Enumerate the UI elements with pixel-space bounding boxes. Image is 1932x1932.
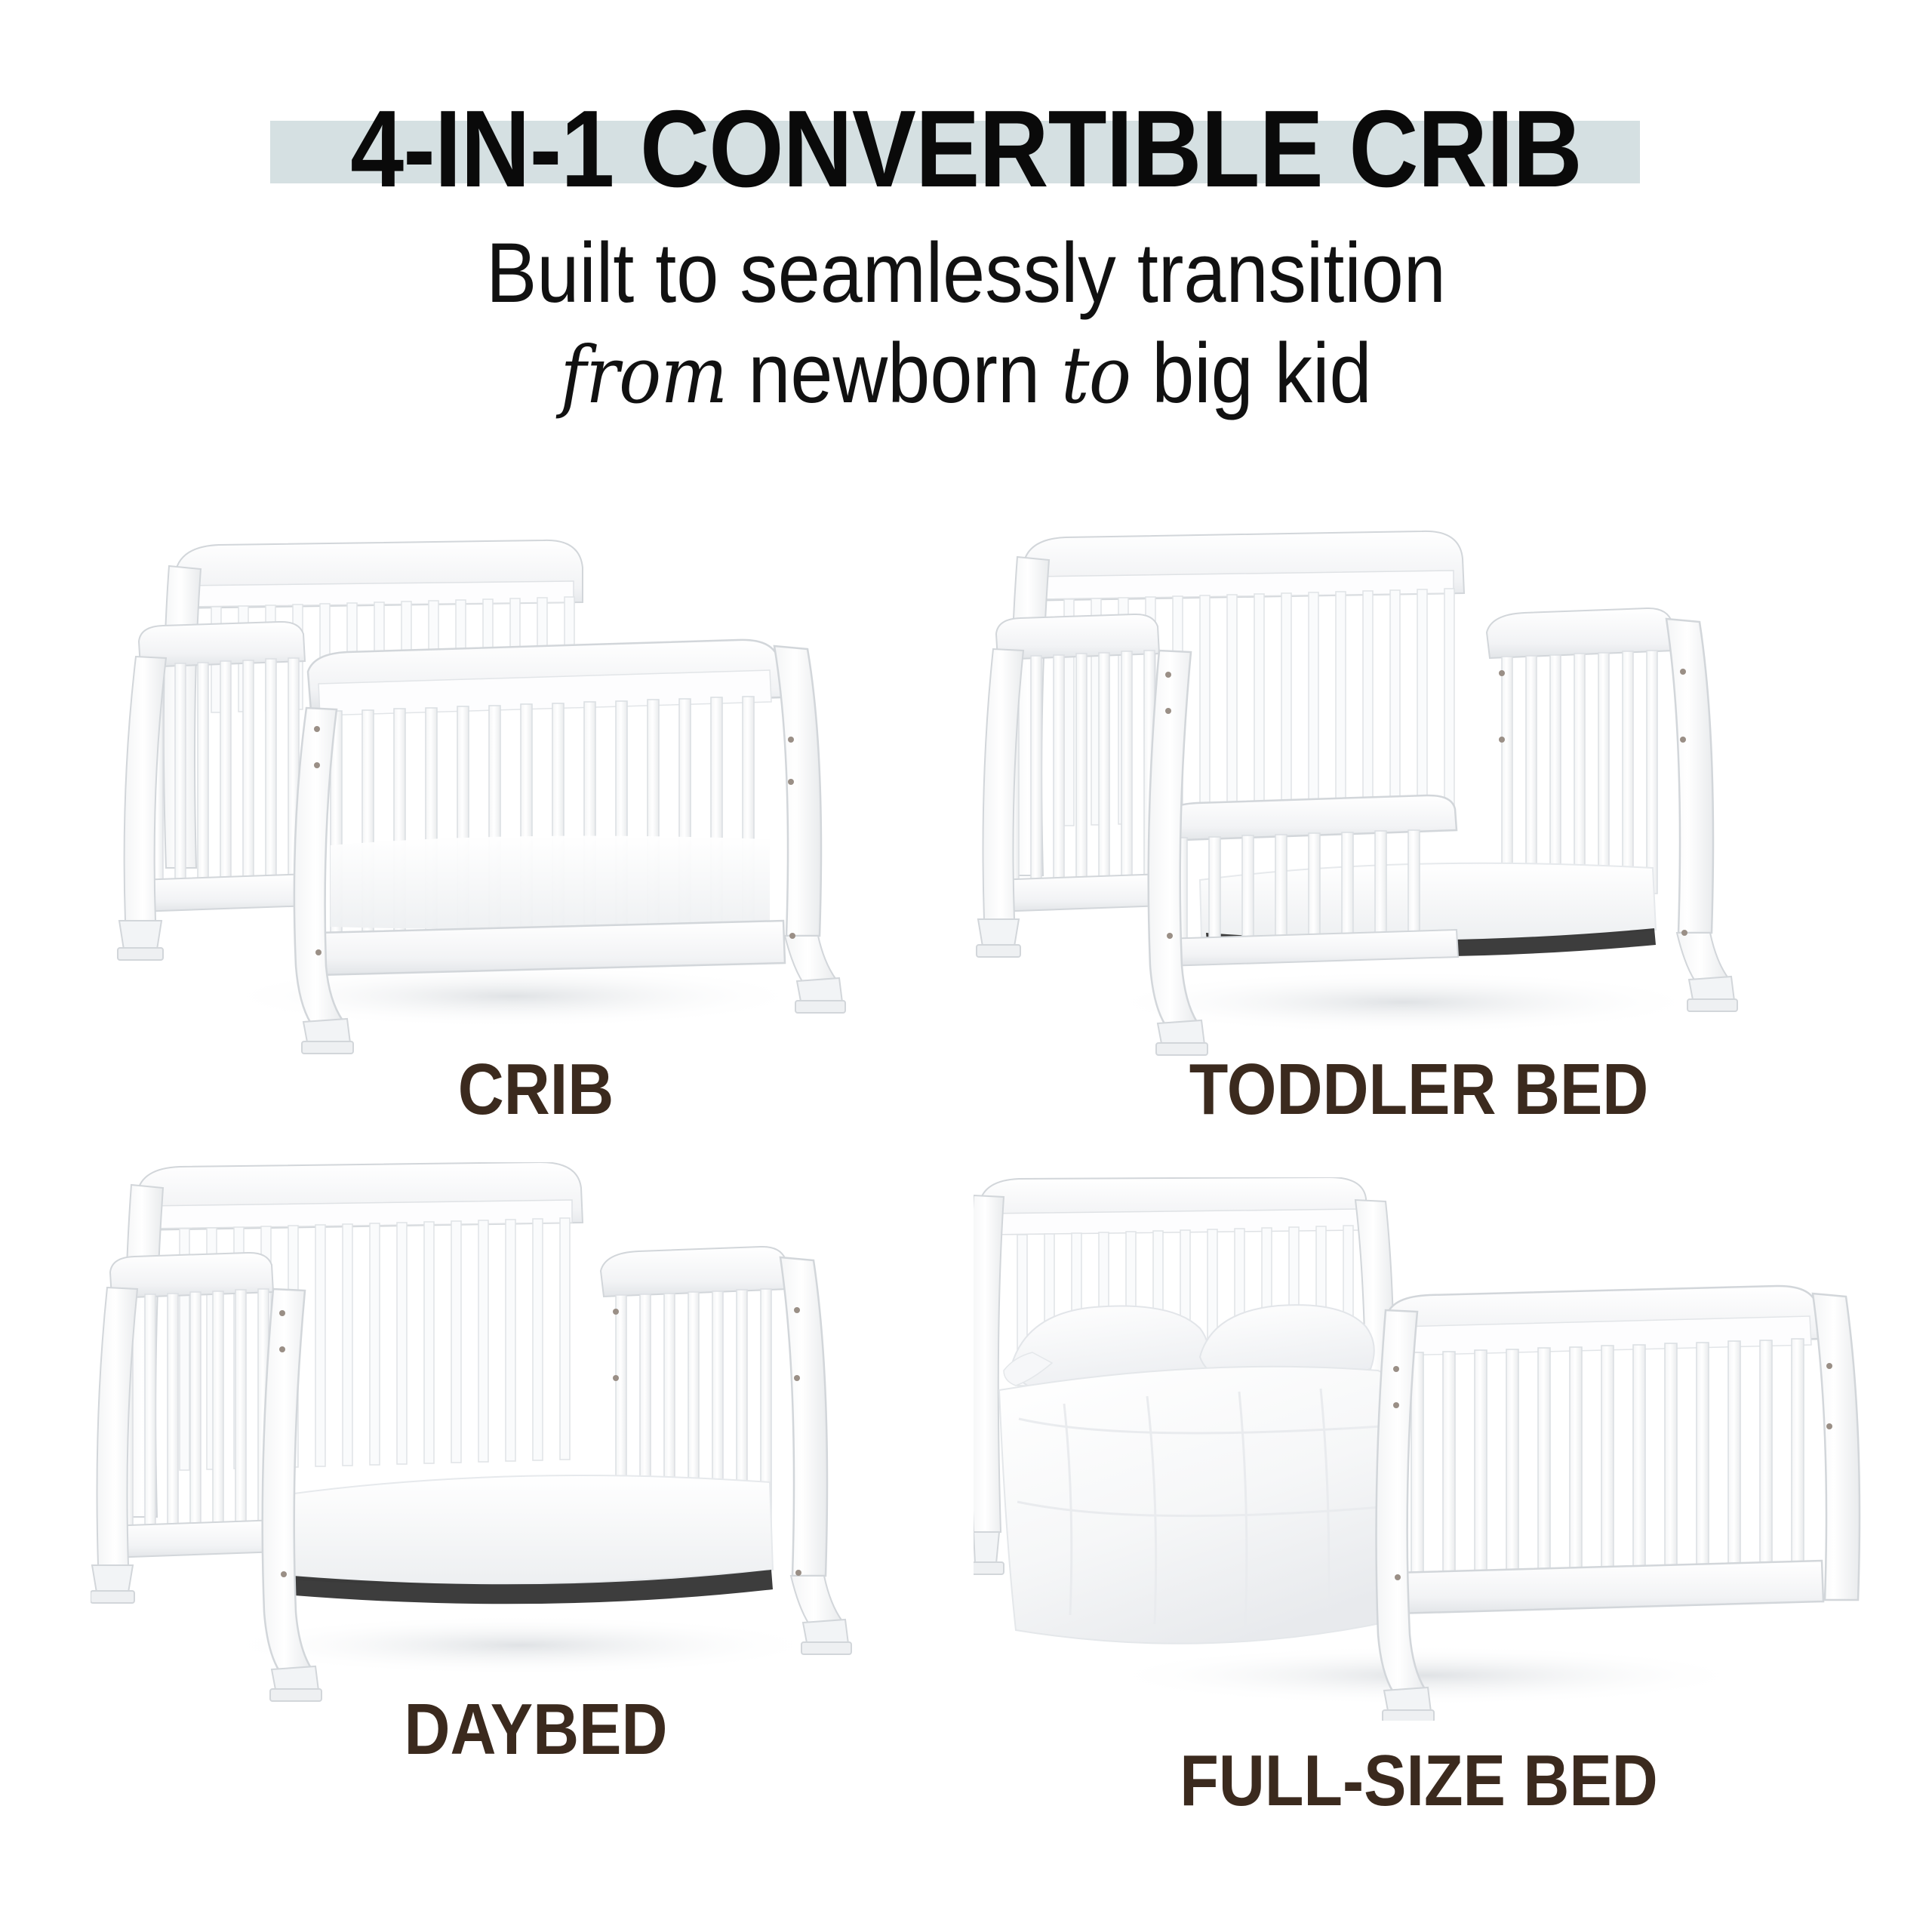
page-title: 4-IN-1 CONVERTIBLE CRIB <box>116 89 1817 208</box>
subtitle-script-from: from <box>560 329 727 421</box>
subtitle-script-to: to <box>1061 329 1131 421</box>
infographic-page: 4-IN-1 CONVERTIBLE CRIB Built to seamles… <box>0 0 1932 1932</box>
subtitle-line-2: from newborn to big kid <box>97 325 1835 424</box>
title-block: 4-IN-1 CONVERTIBLE CRIB <box>0 89 1932 217</box>
subtitle-plain-newborn: newborn <box>748 326 1040 420</box>
header: 4-IN-1 CONVERTIBLE CRIB Built to seamles… <box>0 0 1932 483</box>
panel-toddler-bed: TODDLER BED <box>974 513 1864 1215</box>
caption-toddler-bed: TODDLER BED <box>1027 1051 1810 1129</box>
caption-crib: CRIB <box>144 1051 928 1129</box>
panel-full-size-bed: FULL-SIZE BED <box>974 1177 1864 1879</box>
caption-full-size-bed: FULL-SIZE BED <box>1027 1742 1810 1820</box>
configuration-grid: CRIB <box>0 498 1932 1932</box>
toddler-bed-illustration <box>974 513 1864 1057</box>
panel-crib: CRIB <box>91 513 981 1215</box>
full-size-bed-illustration <box>974 1177 1864 1721</box>
daybed-illustration <box>91 1162 981 1706</box>
subtitle-line-1: Built to seamlessly transition <box>97 226 1835 320</box>
caption-daybed: DAYBED <box>144 1690 928 1769</box>
panel-daybed: DAYBED <box>91 1162 981 1864</box>
subtitle-plain-bigkid: big kid <box>1152 326 1371 420</box>
crib-illustration <box>91 513 981 1057</box>
